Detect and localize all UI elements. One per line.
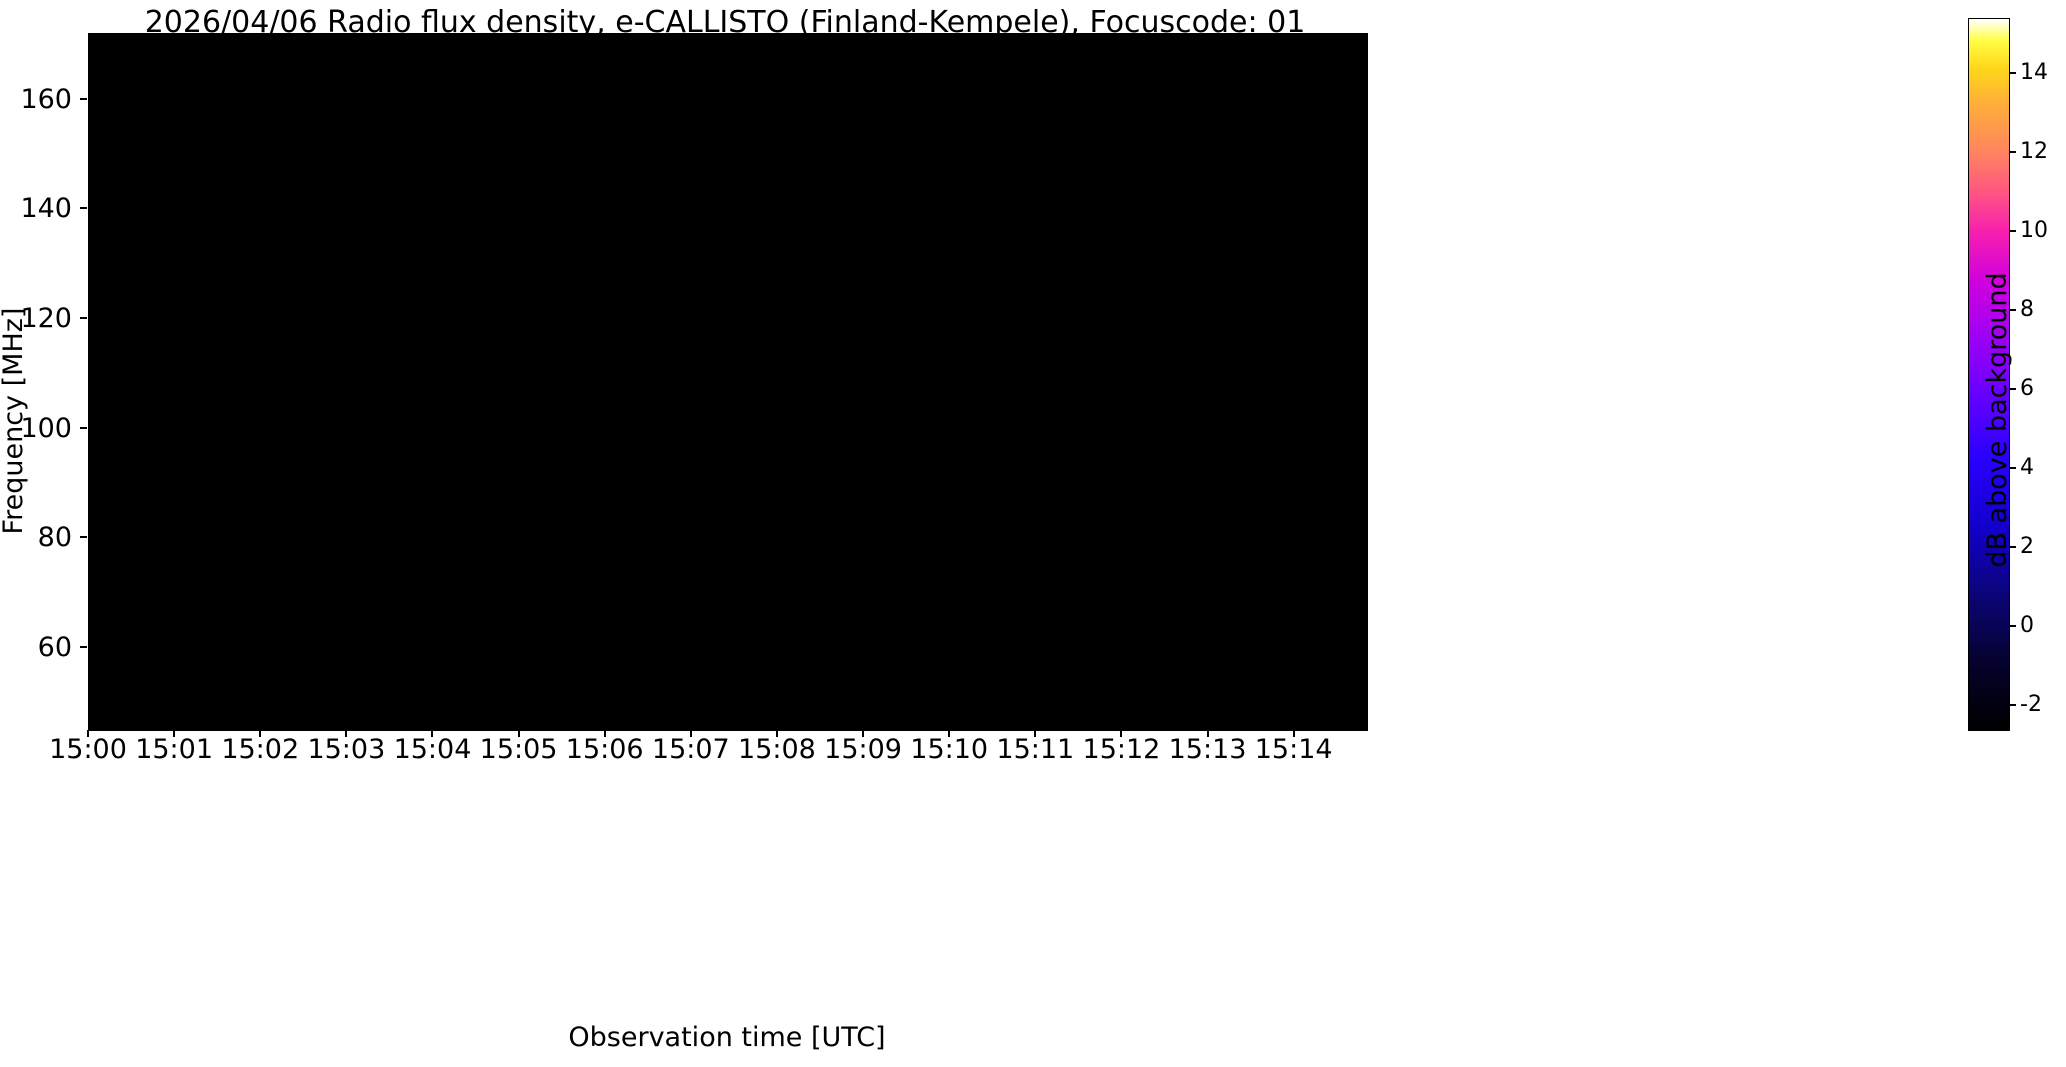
x-tick-mark xyxy=(87,730,89,737)
colorbar-tick-mark xyxy=(2009,72,2016,74)
colorbar-tick-label: 4 xyxy=(2020,457,2066,479)
y-tick-mark xyxy=(80,427,87,429)
x-tick-mark xyxy=(776,730,778,737)
y-tick-mark xyxy=(80,98,87,100)
colorbar-tick-label: 0 xyxy=(2020,615,2066,637)
colorbar-tick-label: 2 xyxy=(2020,536,2066,558)
x-tick-label-15-14: 15:14 xyxy=(1214,735,1374,765)
y-tick-label-100: 100 xyxy=(0,415,72,442)
x-tick-mark xyxy=(431,730,433,737)
x-tick-mark xyxy=(173,730,175,737)
x-tick-mark xyxy=(948,730,950,737)
colorbar-tick-mark xyxy=(2009,151,2016,153)
x-tick-mark xyxy=(604,730,606,737)
y-tick-label-120: 120 xyxy=(0,305,72,332)
x-tick-mark xyxy=(690,730,692,737)
x-tick-mark xyxy=(862,730,864,737)
colorbar-tick-label: 14 xyxy=(2020,62,2066,84)
y-tick-label-80: 80 xyxy=(0,524,72,551)
colorbar-tick-mark xyxy=(2009,704,2016,706)
x-tick-mark xyxy=(345,730,347,737)
y-tick-label-160: 160 xyxy=(0,86,72,113)
colorbar-tick-label: 6 xyxy=(2020,378,2066,400)
x-tick-mark xyxy=(1207,730,1209,737)
colorbar-tick-label: -2 xyxy=(2020,694,2066,716)
spectrogram-image xyxy=(89,34,1367,730)
colorbar-tick-label: 10 xyxy=(2020,220,2066,242)
x-axis-label: Observation time [UTC] xyxy=(88,1022,1366,1053)
y-tick-label-140: 140 xyxy=(0,195,72,222)
y-tick-mark xyxy=(80,207,87,209)
x-tick-mark xyxy=(1034,730,1036,737)
figure-canvas: 2026/04/06 Radio flux density, e-CALLIST… xyxy=(0,0,2066,1067)
x-tick-mark xyxy=(1120,730,1122,737)
x-tick-mark xyxy=(259,730,261,737)
colorbar-tick-label: 8 xyxy=(2020,299,2066,321)
y-tick-mark xyxy=(80,317,87,319)
y-tick-mark xyxy=(80,646,87,648)
y-tick-label-60: 60 xyxy=(0,634,72,661)
y-tick-mark xyxy=(80,536,87,538)
colorbar-tick-label: 12 xyxy=(2020,141,2066,163)
colorbar-label: dB above background xyxy=(1982,210,2013,630)
spectrogram-plot[interactable] xyxy=(88,33,1368,731)
x-tick-mark xyxy=(1293,730,1295,737)
x-tick-mark xyxy=(518,730,520,737)
